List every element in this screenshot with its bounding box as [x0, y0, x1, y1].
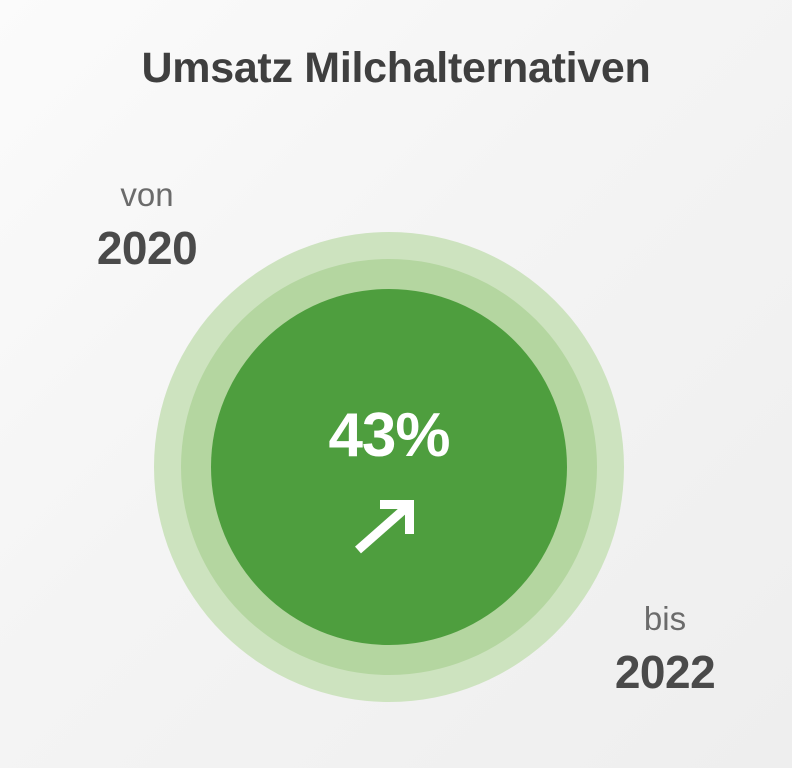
concentric-rings: 43%	[154, 232, 624, 702]
growth-value: 43%	[154, 400, 624, 471]
to-year: 2022	[580, 645, 750, 699]
growth-infographic: Umsatz Milchalternativen von 2020 43% bi…	[0, 0, 792, 768]
page-title: Umsatz Milchalternativen	[0, 44, 792, 93]
to-label: bis	[600, 600, 730, 638]
arrow-up-right-icon	[350, 492, 428, 560]
from-label: von	[72, 176, 222, 214]
